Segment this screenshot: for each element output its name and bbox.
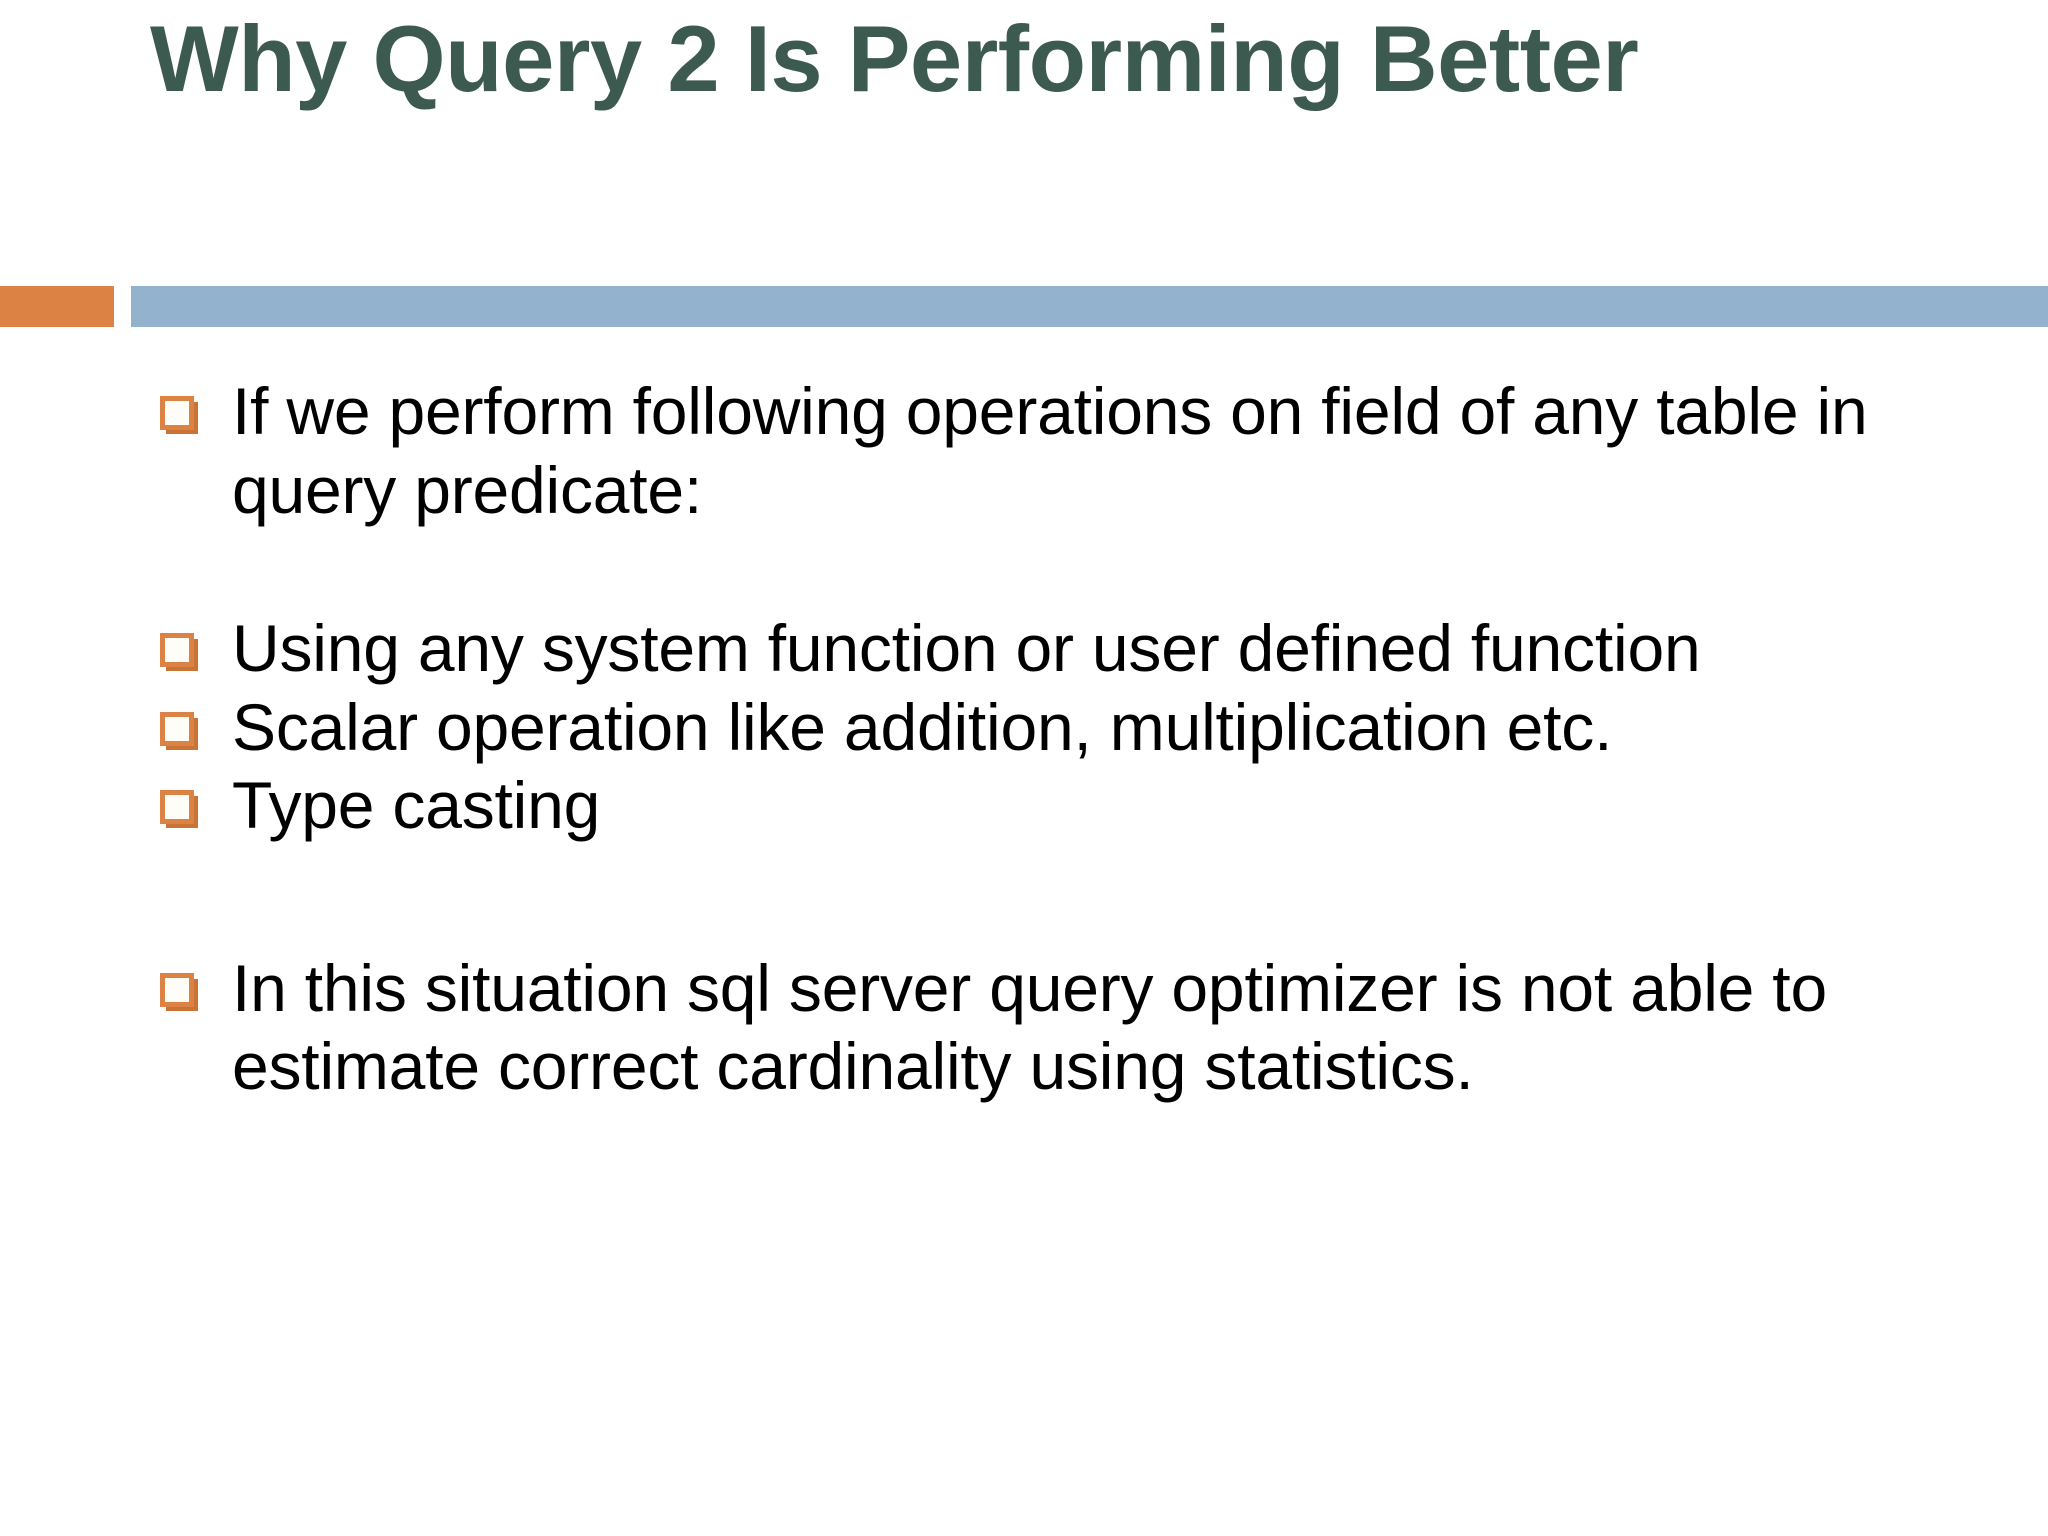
list-item: Type casting	[160, 766, 2020, 845]
list-item: Using any system function or user define…	[160, 609, 2020, 688]
slide-body-content: If we perform following operations on fi…	[160, 372, 2020, 1106]
accent-bar-orange	[0, 286, 114, 327]
list-item-label: Type casting	[232, 766, 2020, 845]
accent-bar-blue	[131, 286, 2048, 327]
slide-title-area: Why Query 2 Is Performing Better	[150, 4, 1870, 115]
title-divider-bars	[0, 286, 2048, 327]
page-title: Why Query 2 Is Performing Better	[150, 4, 1870, 115]
list-item: If we perform following operations on fi…	[160, 372, 2020, 529]
square-bullet-icon	[160, 973, 194, 1007]
square-bullet-icon	[160, 396, 194, 430]
bullet-group-spacer	[160, 845, 2020, 949]
presentation-slide: Why Query 2 Is Performing Better If we p…	[0, 0, 2048, 1536]
square-bullet-icon	[160, 790, 194, 824]
list-item-label: Using any system function or user define…	[232, 609, 2020, 688]
list-item: In this situation sql server query optim…	[160, 949, 2020, 1106]
list-item-label: In this situation sql server query optim…	[232, 949, 2020, 1106]
square-bullet-icon	[160, 712, 194, 746]
list-item-label: If we perform following operations on fi…	[232, 372, 2020, 529]
square-bullet-icon	[160, 633, 194, 667]
list-item: Scalar operation like addition, multipli…	[160, 688, 2020, 767]
bullet-group-spacer	[160, 529, 2020, 609]
list-item-label: Scalar operation like addition, multipli…	[232, 688, 2020, 767]
